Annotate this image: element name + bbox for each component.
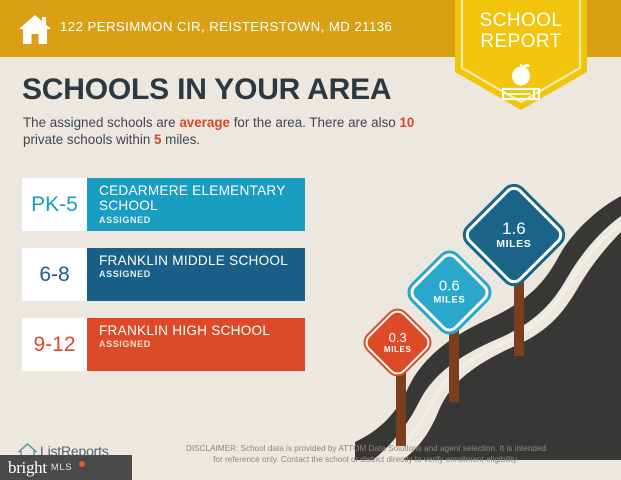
page-subtitle: The assigned schools are average for the… — [23, 115, 453, 148]
bright-mls-dot — [79, 461, 85, 467]
sign-unit: MILES — [384, 346, 411, 354]
badge-line-2: REPORT — [455, 31, 587, 52]
subtitle-part-1: The assigned schools are — [23, 115, 179, 130]
road-signs-illustration: 1.6 MILES 0.6 MILES 0.3 MILES — [355, 170, 621, 460]
school-name: FRANKLIN HIGH SCHOOL — [99, 323, 305, 338]
subtitle-highlight-count: 10 — [399, 115, 414, 130]
sign-unit: MILES — [433, 296, 465, 306]
school-grade-label: 9-12 — [33, 333, 75, 357]
subtitle-part-3: private schools within — [23, 132, 154, 147]
school-row-middle[interactable]: 6-8 FRANKLIN MIDDLE SCHOOL ASSIGNED — [22, 248, 305, 301]
school-name: CEDARMERE ELEMENTARY SCHOOL — [99, 183, 305, 214]
sign-distance: 0.3 — [384, 331, 411, 344]
school-report-badge: SCHOOL REPORT — [455, 0, 587, 110]
bright-mls-word: bright — [8, 458, 47, 478]
page-title: SCHOOLS IN YOUR AREA — [22, 73, 391, 107]
sign-distance: 0.6 — [433, 279, 465, 294]
sign-post — [514, 274, 524, 356]
school-grade-badge: PK-5 — [22, 178, 87, 231]
disclaimer-text: DISCLAIMER: School data is provided by A… — [183, 444, 549, 465]
school-status: ASSIGNED — [99, 269, 305, 279]
subtitle-part-2: for the area. There are also — [230, 115, 399, 130]
sign-post — [449, 326, 459, 402]
school-grade-label: 6-8 — [39, 263, 69, 287]
school-name: FRANKLIN MIDDLE SCHOOL — [99, 253, 305, 268]
school-report-page: 1.6 MILES 0.6 MILES 0.3 MILES — [0, 0, 621, 480]
home-icon — [18, 13, 52, 45]
subtitle-part-4: miles. — [161, 132, 200, 147]
school-row-high[interactable]: 9-12 FRANKLIN HIGH SCHOOL ASSIGNED — [22, 318, 305, 371]
school-status: ASSIGNED — [99, 215, 305, 225]
school-grade-label: PK-5 — [31, 193, 78, 217]
school-info-bar: FRANKLIN MIDDLE SCHOOL ASSIGNED — [87, 248, 305, 301]
badge-line-1: SCHOOL — [455, 10, 587, 31]
sign-unit: MILES — [496, 239, 531, 250]
subtitle-highlight-rating: average — [179, 115, 230, 130]
school-grade-badge: 6-8 — [22, 248, 87, 301]
bright-mls-suffix: MLS — [51, 462, 72, 473]
school-row-elementary[interactable]: PK-5 CEDARMERE ELEMENTARY SCHOOL ASSIGNE… — [22, 178, 305, 231]
school-info-bar: FRANKLIN HIGH SCHOOL ASSIGNED — [87, 318, 305, 371]
school-info-bar: CEDARMERE ELEMENTARY SCHOOL ASSIGNED — [87, 178, 305, 231]
property-address: 122 PERSIMMON CIR, REISTERSTOWN, MD 2113… — [60, 19, 392, 34]
school-grade-badge: 9-12 — [22, 318, 87, 371]
sign-distance: 1.6 — [496, 220, 531, 237]
badge-label: SCHOOL REPORT — [455, 10, 587, 52]
school-status: ASSIGNED — [99, 339, 305, 349]
bright-mls-watermark: bright MLS — [0, 455, 132, 480]
sign-post — [396, 370, 406, 446]
